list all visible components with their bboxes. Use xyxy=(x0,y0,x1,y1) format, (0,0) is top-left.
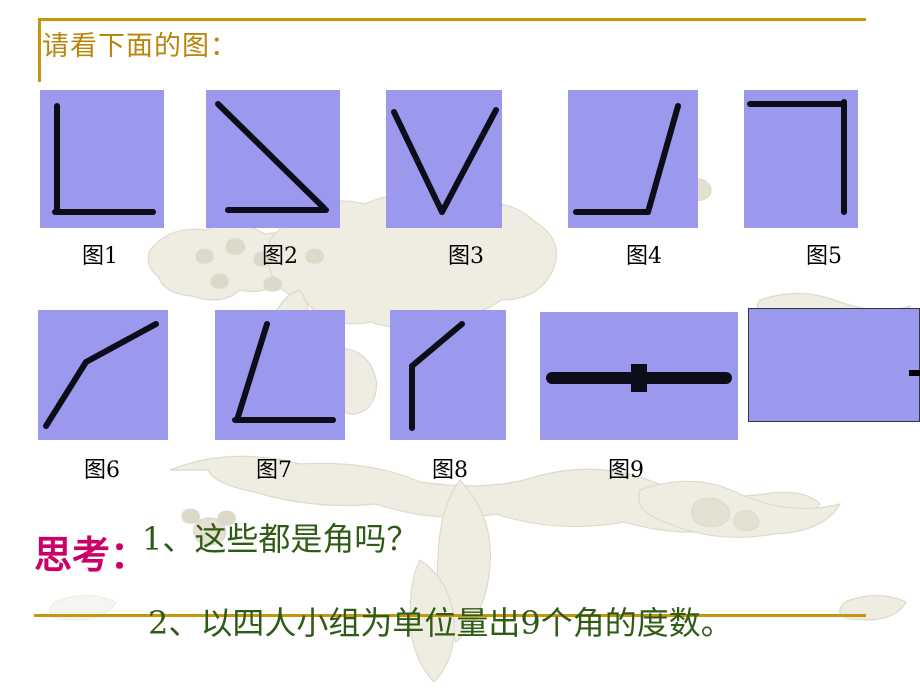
figure-panel-7[interactable] xyxy=(215,310,345,440)
vertex-marker xyxy=(631,364,647,392)
angle-ray-lower xyxy=(46,362,86,426)
figure-panel-5[interactable] xyxy=(744,90,858,228)
question-item-1: 1、这些都是角吗？ xyxy=(142,514,418,560)
figure-panel-1[interactable] xyxy=(40,90,164,228)
top-gold-rule xyxy=(38,18,866,21)
figure-label-6: 图6 xyxy=(84,452,120,484)
figure-label-7: 图7 xyxy=(256,452,292,484)
figure-panel-3[interactable] xyxy=(386,90,502,228)
figure-label-1: 图1 xyxy=(82,238,118,270)
page-title: 请看下面的图： xyxy=(42,24,238,63)
figure-panel-10-empty[interactable] xyxy=(748,308,920,422)
figure-panel-2[interactable] xyxy=(206,90,340,228)
figure-label-4: 图4 xyxy=(626,238,662,270)
figure-label-2: 图2 xyxy=(262,238,298,270)
panel-10-edge-tick xyxy=(909,370,920,376)
figure-panel-9[interactable] xyxy=(540,312,738,440)
question-item-2: 2、以四人小组为单位量出9个角的度数。 xyxy=(148,598,733,644)
figure-label-8: 图8 xyxy=(432,452,468,484)
angle-ray-diagonal xyxy=(412,324,462,366)
slide-canvas: 请看下面的图： 图1 图2 图3 图4 图5 xyxy=(0,0,920,690)
figure-label-5: 图5 xyxy=(806,238,842,270)
figure-label-3: 图3 xyxy=(448,238,484,270)
figure-panel-6[interactable] xyxy=(38,310,168,440)
angle-ray-right xyxy=(442,110,496,212)
angle-ray-slanted xyxy=(648,106,678,212)
figure-panel-4[interactable] xyxy=(568,90,698,228)
angle-ray-upper xyxy=(86,324,156,362)
left-gold-rule xyxy=(38,18,41,82)
figure-label-9: 图9 xyxy=(608,452,644,484)
angle-ray-left xyxy=(394,112,442,212)
think-prompt-label: 思考： xyxy=(34,524,148,579)
angle-ray-slanted xyxy=(237,324,267,420)
figure-panel-8[interactable] xyxy=(390,310,506,440)
angle-ray-diagonal xyxy=(218,104,324,208)
